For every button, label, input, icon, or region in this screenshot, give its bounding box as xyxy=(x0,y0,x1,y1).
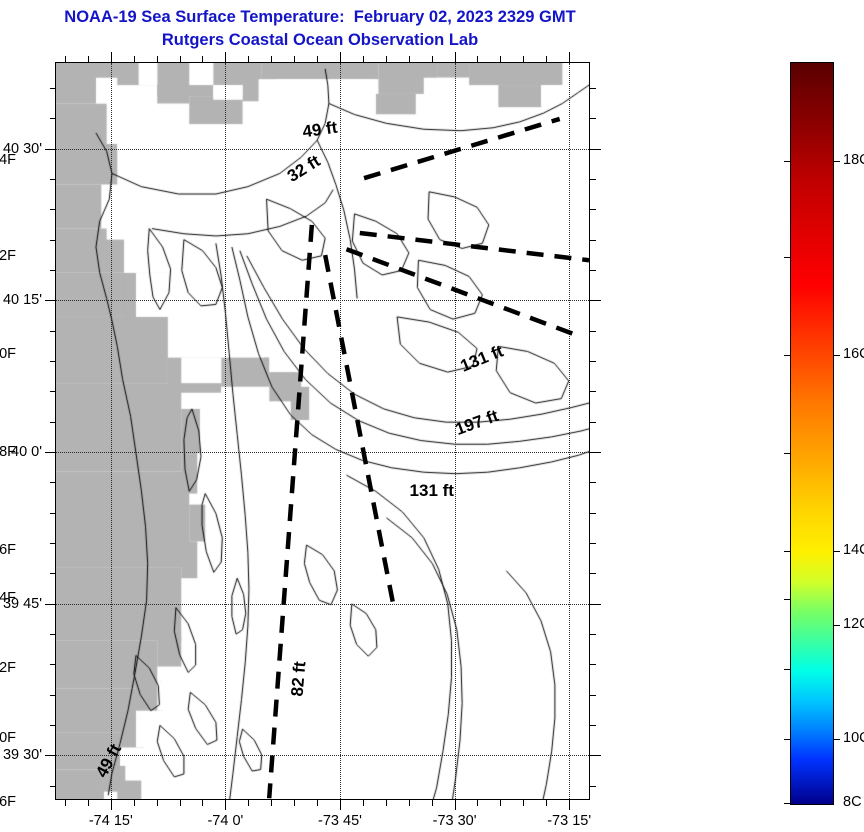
y-tick-right xyxy=(590,361,596,362)
x-tick-top xyxy=(569,52,570,62)
colorbar-tick-f-2 xyxy=(784,355,791,356)
x-tick-top xyxy=(455,52,456,62)
y-tick-right xyxy=(590,634,596,635)
x-tick-bottom xyxy=(180,800,181,806)
transect-se-1 xyxy=(346,249,581,337)
y-tick-left xyxy=(50,422,56,423)
colorbar-label-fahrenheit: 64F xyxy=(0,152,16,168)
y-tick-right xyxy=(590,391,596,392)
colorbar-tick-f-7 xyxy=(784,739,791,740)
x-axis-label: -73 15' xyxy=(547,813,591,829)
y-tick-right xyxy=(590,664,596,665)
colorbar-tick-c-3 xyxy=(833,625,840,626)
colorbar-tick-f-3 xyxy=(784,453,791,454)
x-tick-top xyxy=(523,56,524,62)
sst-map-panel[interactable]: 49 ft32 ft131 ft197 ft131 ft82 ft49 ft xyxy=(55,62,590,800)
colorbar-label-fahrenheit: 50F xyxy=(0,730,16,746)
x-axis-label: -74 15' xyxy=(89,813,133,829)
x-tick-bottom xyxy=(88,800,89,806)
colorbar-tick-f-0 xyxy=(784,161,791,162)
y-tick-left xyxy=(45,300,56,301)
x-tick-bottom xyxy=(271,800,272,806)
y-tick-left xyxy=(50,482,56,483)
colorbar-tick-f-1 xyxy=(784,257,791,258)
y-tick-right xyxy=(590,179,596,180)
y-tick-left xyxy=(50,331,56,332)
x-tick-top xyxy=(477,56,478,62)
x-axis-label: -73 45' xyxy=(318,813,362,829)
y-tick-left xyxy=(50,725,56,726)
x-tick-bottom xyxy=(363,800,364,806)
transect-s-2 xyxy=(269,225,312,798)
x-tick-bottom xyxy=(523,800,524,806)
x-tick-top xyxy=(386,56,387,62)
x-tick-top xyxy=(202,56,203,62)
x-tick-top xyxy=(500,56,501,62)
transect-ne-1 xyxy=(364,119,560,178)
map-vector-overlay xyxy=(56,63,589,799)
y-tick-left xyxy=(50,391,56,392)
colorbar-label-fahrenheit: 46F xyxy=(0,794,16,810)
x-tick-bottom xyxy=(500,800,501,806)
x-tick-top xyxy=(134,56,135,62)
colorbar-label-fahrenheit: 52F xyxy=(0,660,16,676)
y-tick-right xyxy=(590,422,596,423)
y-tick-left xyxy=(50,118,56,119)
y-tick-right xyxy=(590,331,596,332)
y-tick-left xyxy=(50,513,56,514)
title-line-2: Rutgers Coastal Ocean Observation Lab xyxy=(0,29,640,52)
y-axis-label: 39 30' xyxy=(0,747,42,763)
x-tick-bottom xyxy=(432,800,433,806)
colorbar-tick-c-1 xyxy=(833,355,840,356)
colorbar-tick-f-4 xyxy=(784,551,791,552)
y-tick-left xyxy=(50,786,56,787)
x-tick-bottom xyxy=(569,800,570,810)
x-axis-label: -73 30' xyxy=(433,813,477,829)
y-tick-right xyxy=(590,786,596,787)
x-tick-top xyxy=(409,56,410,62)
y-tick-left xyxy=(45,149,56,150)
x-tick-top xyxy=(363,56,364,62)
y-tick-right xyxy=(590,270,596,271)
x-tick-top xyxy=(225,52,226,62)
x-tick-top xyxy=(271,56,272,62)
y-tick-right xyxy=(590,149,601,150)
colorbar-tick-f-5 xyxy=(784,599,791,600)
x-tick-top xyxy=(65,56,66,62)
chart-title-block: NOAA-19 Sea Surface Temperature: Februar… xyxy=(0,6,640,52)
x-tick-top xyxy=(546,56,547,62)
x-tick-bottom xyxy=(546,800,547,806)
colorbar-label-fahrenheit: 56F xyxy=(0,542,16,558)
colorbar-tick-c-0 xyxy=(833,161,840,162)
x-tick-bottom xyxy=(409,800,410,806)
y-tick-left xyxy=(45,755,56,756)
y-tick-right xyxy=(590,482,596,483)
x-tick-bottom xyxy=(65,800,66,806)
y-tick-left xyxy=(50,209,56,210)
colorbar-label-celsius: 16C xyxy=(843,346,864,362)
colorbar-label-celsius: 18C xyxy=(843,152,864,168)
colorbar-tick-f-8 xyxy=(784,803,791,804)
y-tick-right xyxy=(590,755,601,756)
x-tick-top xyxy=(157,56,158,62)
y-tick-left xyxy=(50,573,56,574)
x-tick-bottom xyxy=(477,800,478,806)
x-tick-bottom xyxy=(248,800,249,806)
y-tick-left xyxy=(50,695,56,696)
depth-contour-label-4: 131 ft xyxy=(410,481,454,501)
x-tick-top xyxy=(294,56,295,62)
y-tick-right xyxy=(590,573,596,574)
y-tick-left xyxy=(50,240,56,241)
x-tick-top xyxy=(340,52,341,62)
x-tick-top xyxy=(248,56,249,62)
colorbar-label-celsius: 8C xyxy=(843,794,862,810)
colorbar-tick-c-4 xyxy=(833,739,840,740)
depth-contour-label-5: 82 ft xyxy=(287,661,310,698)
y-tick-left xyxy=(50,664,56,665)
y-axis-label: 40 15' xyxy=(0,292,42,308)
y-tick-left xyxy=(50,179,56,180)
y-tick-left xyxy=(45,604,56,605)
x-tick-bottom xyxy=(202,800,203,806)
x-tick-bottom xyxy=(111,800,112,810)
y-tick-right xyxy=(590,604,601,605)
colorbar-label-celsius: 12C xyxy=(843,616,864,632)
colorbar-label-fahrenheit: 62F xyxy=(0,248,16,264)
x-tick-bottom xyxy=(157,800,158,806)
y-tick-left xyxy=(50,361,56,362)
y-tick-right xyxy=(590,695,596,696)
y-tick-right xyxy=(590,88,596,89)
x-tick-bottom xyxy=(340,800,341,810)
y-tick-right xyxy=(590,300,601,301)
x-tick-top xyxy=(180,56,181,62)
transect-e-1 xyxy=(360,233,589,260)
title-line-1: NOAA-19 Sea Surface Temperature: Februar… xyxy=(0,6,640,29)
colorbar-tick-c-2 xyxy=(833,551,840,552)
y-tick-right xyxy=(590,725,596,726)
y-tick-left xyxy=(45,452,56,453)
temperature-colorbar[interactable] xyxy=(790,62,834,805)
colorbar-label-celsius: 10C xyxy=(843,730,864,746)
x-tick-top xyxy=(317,56,318,62)
y-tick-right xyxy=(590,513,596,514)
y-tick-left xyxy=(50,270,56,271)
transect-s-1 xyxy=(325,255,394,610)
x-tick-bottom xyxy=(134,800,135,806)
x-tick-bottom xyxy=(455,800,456,810)
colorbar-label-fahrenheit: 60F xyxy=(0,346,16,362)
x-tick-top xyxy=(432,56,433,62)
y-tick-right xyxy=(590,543,596,544)
x-tick-bottom xyxy=(225,800,226,810)
y-tick-right xyxy=(590,209,596,210)
y-tick-right xyxy=(590,240,596,241)
y-tick-right xyxy=(590,118,596,119)
y-tick-left xyxy=(50,543,56,544)
colorbar-label-celsius: 14C xyxy=(843,542,864,558)
x-tick-bottom xyxy=(386,800,387,806)
y-tick-right xyxy=(590,452,601,453)
colorbar-gradient xyxy=(791,63,833,804)
y-tick-left xyxy=(50,634,56,635)
x-tick-bottom xyxy=(294,800,295,806)
colorbar-label-fahrenheit: 54F xyxy=(0,590,16,606)
x-tick-bottom xyxy=(317,800,318,806)
colorbar-label-fahrenheit: 58F xyxy=(0,444,16,460)
colorbar-tick-f-6 xyxy=(784,669,791,670)
y-tick-left xyxy=(50,88,56,89)
x-tick-top xyxy=(111,52,112,62)
x-axis-label: -74 0' xyxy=(207,813,243,829)
x-tick-top xyxy=(88,56,89,62)
